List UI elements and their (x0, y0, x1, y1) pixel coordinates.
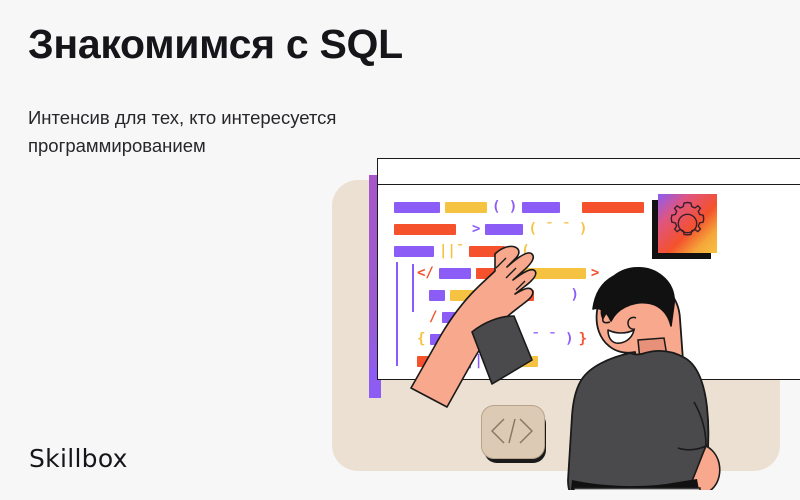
person-illustration (320, 150, 780, 490)
promo-banner: Знакомимся с SQL Интенсив для тех, кто и… (0, 0, 800, 500)
text-block: Знакомимся с SQL Интенсив для тех, кто и… (28, 22, 498, 160)
page-title: Знакомимся с SQL (28, 22, 498, 68)
brand-logo[interactable]: Skillbox (29, 444, 128, 473)
illustration: ( )>( ¯ ¯ )||¯(</>()/>{¯ ¯ )}||¯ (320, 150, 780, 490)
